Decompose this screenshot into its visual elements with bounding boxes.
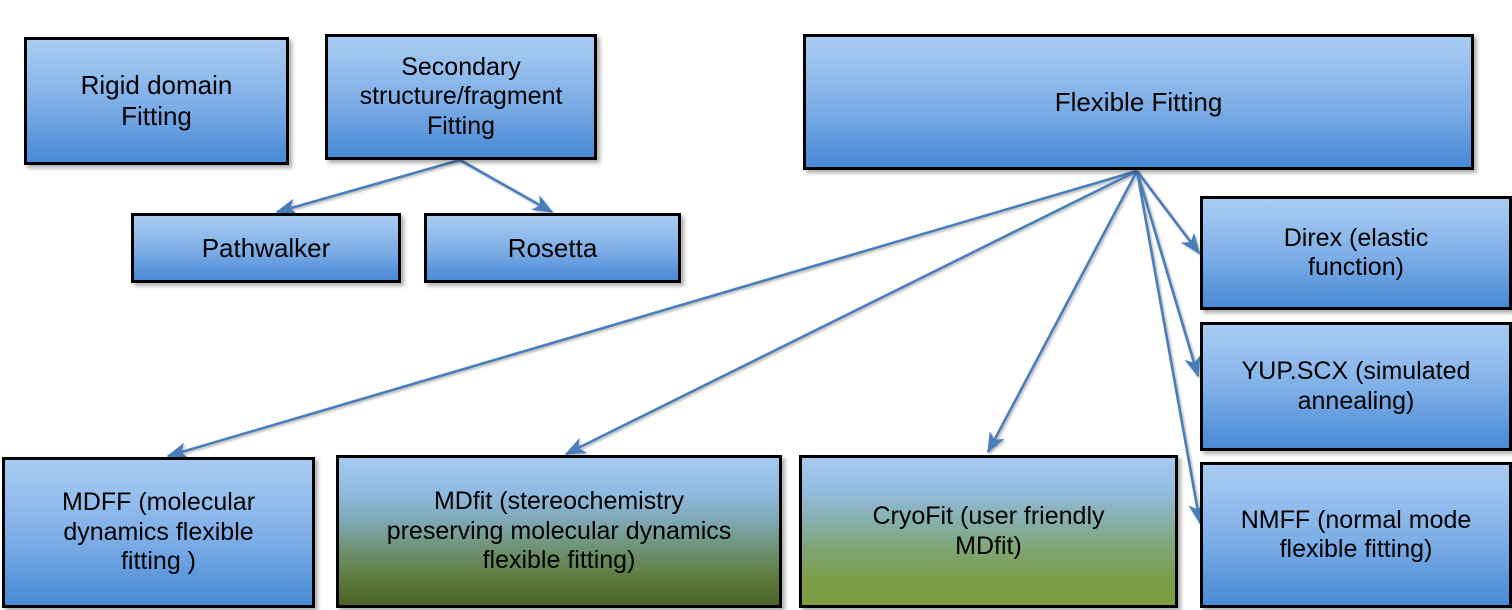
- node-yup-scx: YUP.SCX (simulated annealing): [1200, 322, 1512, 451]
- node-mdff: MDFF (molecular dynamics flexible fittin…: [2, 457, 315, 608]
- node-direx: Direx (elastic function): [1200, 196, 1512, 310]
- node-secondary-structure-fragment-fitting: Secondary structure/fragment Fitting: [325, 34, 597, 160]
- node-rosetta: Rosetta: [424, 213, 681, 283]
- connector-secondary-to-rosetta: [460, 160, 552, 212]
- node-pathwalker: Pathwalker: [131, 213, 401, 283]
- node-mdfit: MDfit (stereochemistry preserving molecu…: [336, 455, 782, 608]
- node-rigid-domain-fitting: Rigid domain Fitting: [24, 37, 289, 165]
- connector-secondary-to-pathwalker: [277, 160, 460, 212]
- node-nmff: NMFF (normal mode flexible fitting): [1200, 462, 1512, 608]
- node-flexible-fitting: Flexible Fitting: [803, 34, 1474, 170]
- node-cryofit: CryoFit (user friendly MDfit): [799, 455, 1178, 608]
- connector-flexible-to-direx: [1137, 171, 1199, 253]
- connector-flexible-to-cryofit: [988, 171, 1137, 452]
- connector-flexible-to-yupscx: [1137, 171, 1198, 376]
- diagram-canvas: Rigid domain FittingSecondary structure/…: [0, 0, 1512, 610]
